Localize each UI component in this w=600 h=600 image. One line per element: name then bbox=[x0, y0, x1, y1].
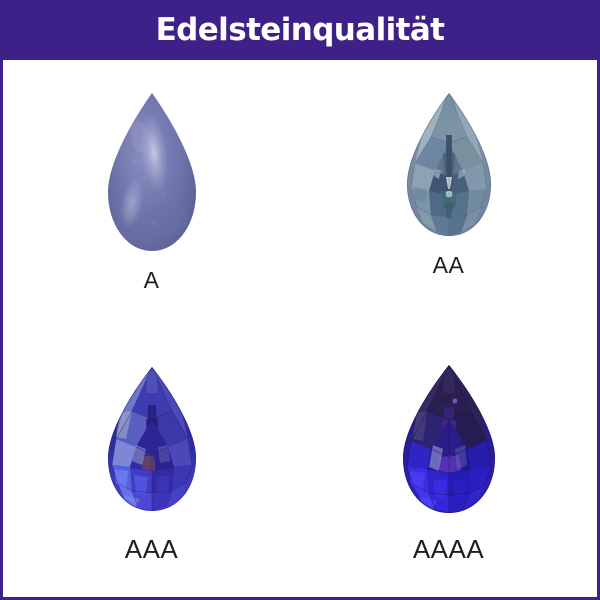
gemstone-aa-container bbox=[389, 90, 509, 240]
header-bar: Edelsteinqualität bbox=[0, 0, 600, 60]
gemstone-pear-cabochon-a-icon bbox=[94, 91, 210, 254]
gemstone-grade-grid: A bbox=[3, 60, 597, 597]
grade-label-aaaa: AAAA bbox=[413, 536, 484, 562]
gemstone-pear-faceted-aaaa-icon bbox=[393, 363, 505, 515]
grade-cell-a: A bbox=[3, 60, 300, 329]
grade-label-aaa: AAA bbox=[125, 536, 179, 562]
page-title: Edelsteinqualität bbox=[156, 15, 445, 46]
grade-cell-aaa: AAA bbox=[3, 329, 300, 598]
grade-cell-aaaa: AAAA bbox=[300, 329, 597, 598]
grade-label-aa: AA bbox=[433, 254, 465, 277]
gemstone-aaaa-container bbox=[379, 357, 519, 522]
grade-cell-aa: AA bbox=[300, 60, 597, 329]
gemstone-aaa-container bbox=[82, 357, 222, 522]
content-frame: A bbox=[0, 60, 600, 600]
gemstone-a-container bbox=[82, 90, 222, 255]
gemstone-quality-chart: Edelsteinqualität bbox=[0, 0, 600, 600]
grade-label-a: A bbox=[144, 269, 160, 292]
gemstone-pear-faceted-aa-icon bbox=[399, 91, 499, 239]
gemstone-pear-faceted-aaa-icon bbox=[98, 365, 206, 513]
